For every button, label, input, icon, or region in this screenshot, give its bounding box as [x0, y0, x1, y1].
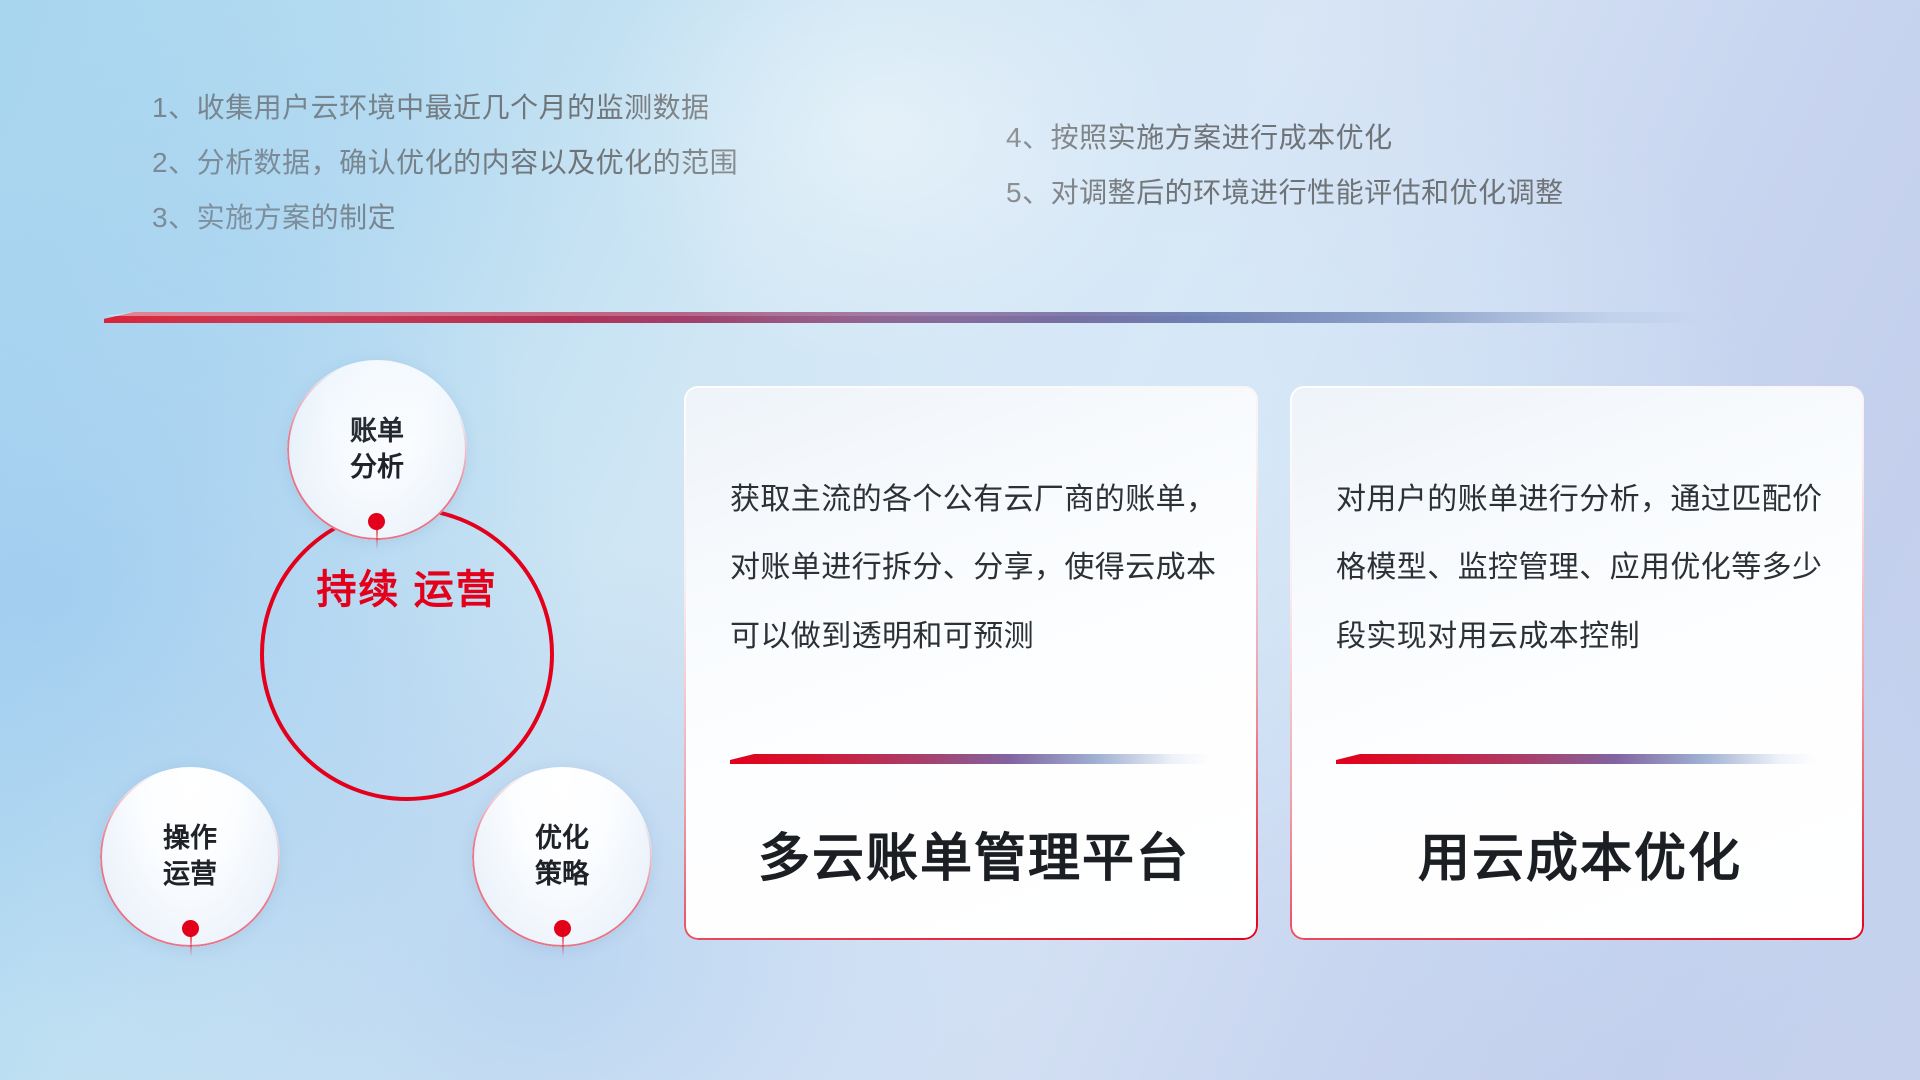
step-item-4: 4、按照实施方案进行成本优化: [1006, 116, 1393, 156]
card-accent-rule: [730, 754, 1212, 764]
center-label-line2: 运营: [414, 568, 498, 612]
diagram-center-label: 持续 运营: [260, 567, 554, 614]
card-title: 用云成本优化: [1336, 816, 1824, 891]
card-accent-rule: [1336, 754, 1818, 764]
card-content: 对用户的账单进行分析，通过匹配价格模型、监控管理、应用优化等多少段实现对用云成本…: [1290, 386, 1864, 940]
diagram-marker-dot-left: [182, 920, 199, 937]
diagram-marker-dot-top: [368, 513, 385, 530]
node-label-line2: 策略: [535, 857, 589, 893]
card-description: 获取主流的各个公有云厂商的账单，对账单进行拆分、分享，使得云成本可以做到透明和可…: [730, 466, 1218, 671]
diagram-marker-dot-right: [554, 920, 571, 937]
step-item-1: 1、收集用户云环境中最近几个月的监测数据: [152, 86, 710, 126]
node-label-line1: 账单: [350, 414, 404, 450]
feature-card-cloud-cost-optimization[interactable]: 对用户的账单进行分析，通过匹配价格模型、监控管理、应用优化等多少段实现对用云成本…: [1290, 386, 1864, 940]
step-item-2: 2、分析数据，确认优化的内容以及优化的范围: [152, 141, 738, 181]
card-title: 多云账单管理平台: [730, 816, 1218, 891]
node-label-line1: 优化: [535, 821, 589, 857]
section-divider-highlight: [104, 312, 1704, 316]
center-label-line1: 持续: [316, 568, 400, 612]
card-content: 获取主流的各个公有云厂商的账单，对账单进行拆分、分享，使得云成本可以做到透明和可…: [684, 386, 1258, 940]
node-label-line2: 分析: [350, 450, 404, 486]
node-label-line2: 运营: [163, 857, 217, 893]
node-label-line1: 操作: [163, 821, 217, 857]
feature-card-multicloud-billing[interactable]: 获取主流的各个公有云厂商的账单，对账单进行拆分、分享，使得云成本可以做到透明和可…: [684, 386, 1258, 940]
card-description: 对用户的账单进行分析，通过匹配价格模型、监控管理、应用优化等多少段实现对用云成本…: [1336, 466, 1824, 671]
diagram-ring: [260, 507, 554, 801]
continuous-operation-diagram: 持续 运营 账单 分析 操作 运营 优化 策略: [100, 352, 660, 952]
slide-canvas: 1、收集用户云环境中最近几个月的监测数据 2、分析数据，确认优化的内容以及优化的…: [0, 0, 1920, 1080]
process-steps: 1、收集用户云环境中最近几个月的监测数据 2、分析数据，确认优化的内容以及优化的…: [0, 86, 1920, 266]
step-item-5: 5、对调整后的环境进行性能评估和优化调整: [1006, 171, 1564, 211]
step-item-3: 3、实施方案的制定: [152, 196, 396, 236]
